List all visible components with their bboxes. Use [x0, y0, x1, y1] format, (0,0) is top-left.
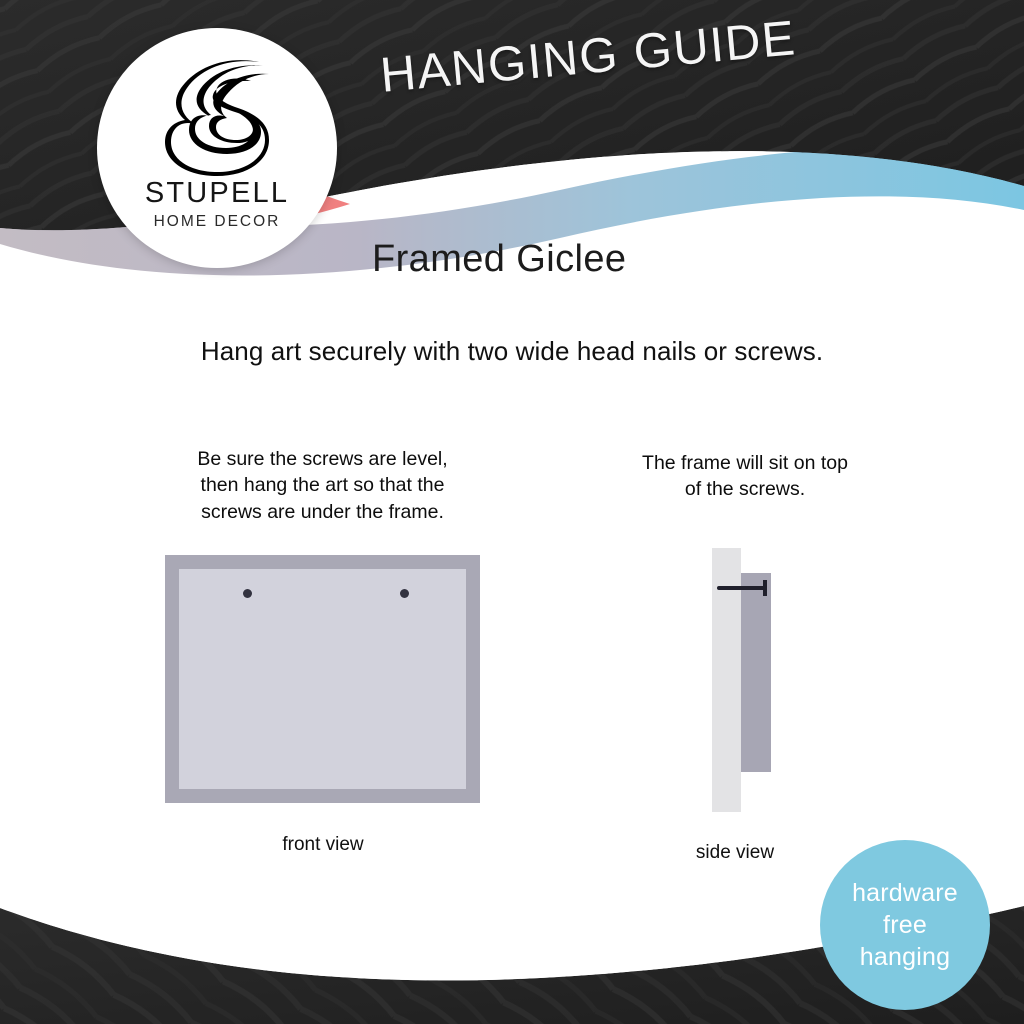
brand-tagline: HOME DECOR — [97, 213, 337, 231]
side-view-label: side view — [620, 842, 850, 864]
front-view-caption-line-1: Be sure the screws are level, — [150, 446, 495, 472]
brand-name: STUPELL — [97, 178, 337, 208]
front-view-label: front view — [163, 834, 483, 856]
front-view-caption-line-2: then hang the art so that the — [150, 472, 495, 498]
hardware-badge-line-2: free — [883, 909, 927, 941]
side-view-caption-line-1: The frame will sit on top — [600, 450, 890, 476]
nail-head-icon — [763, 580, 767, 596]
brand-logo-badge: STUPELL HOME DECOR — [97, 28, 337, 268]
product-type-label: Framed Giclee — [372, 238, 626, 281]
main-instruction-text: Hang art securely with two wide head nai… — [0, 336, 1024, 367]
hardware-badge-line-3: hanging — [860, 941, 950, 973]
hardware-badge-line-1: hardware — [852, 877, 958, 909]
front-view-caption-line-3: screws are under the frame. — [150, 499, 495, 525]
nail-shaft-icon — [717, 586, 767, 590]
stupell-s-swoosh-icon — [151, 52, 283, 178]
brand-wordmark: STUPELL HOME DECOR — [97, 178, 337, 231]
front-view-caption: Be sure the screws are level, then hang … — [150, 446, 495, 525]
screw-dot-right — [400, 589, 409, 598]
front-view-diagram — [165, 555, 480, 803]
hanging-guide-page: HANGING GUIDE STUPELL HOME DECOR Framed … — [0, 0, 1024, 1024]
side-view-diagram — [700, 540, 790, 825]
screw-dot-left — [243, 589, 252, 598]
side-view-caption-line-2: of the screws. — [600, 476, 890, 502]
side-view-frame — [741, 573, 771, 772]
front-view-mat — [179, 569, 466, 789]
side-view-caption: The frame will sit on top of the screws. — [600, 450, 890, 503]
hardware-free-hanging-badge: hardware free hanging — [820, 840, 990, 1010]
